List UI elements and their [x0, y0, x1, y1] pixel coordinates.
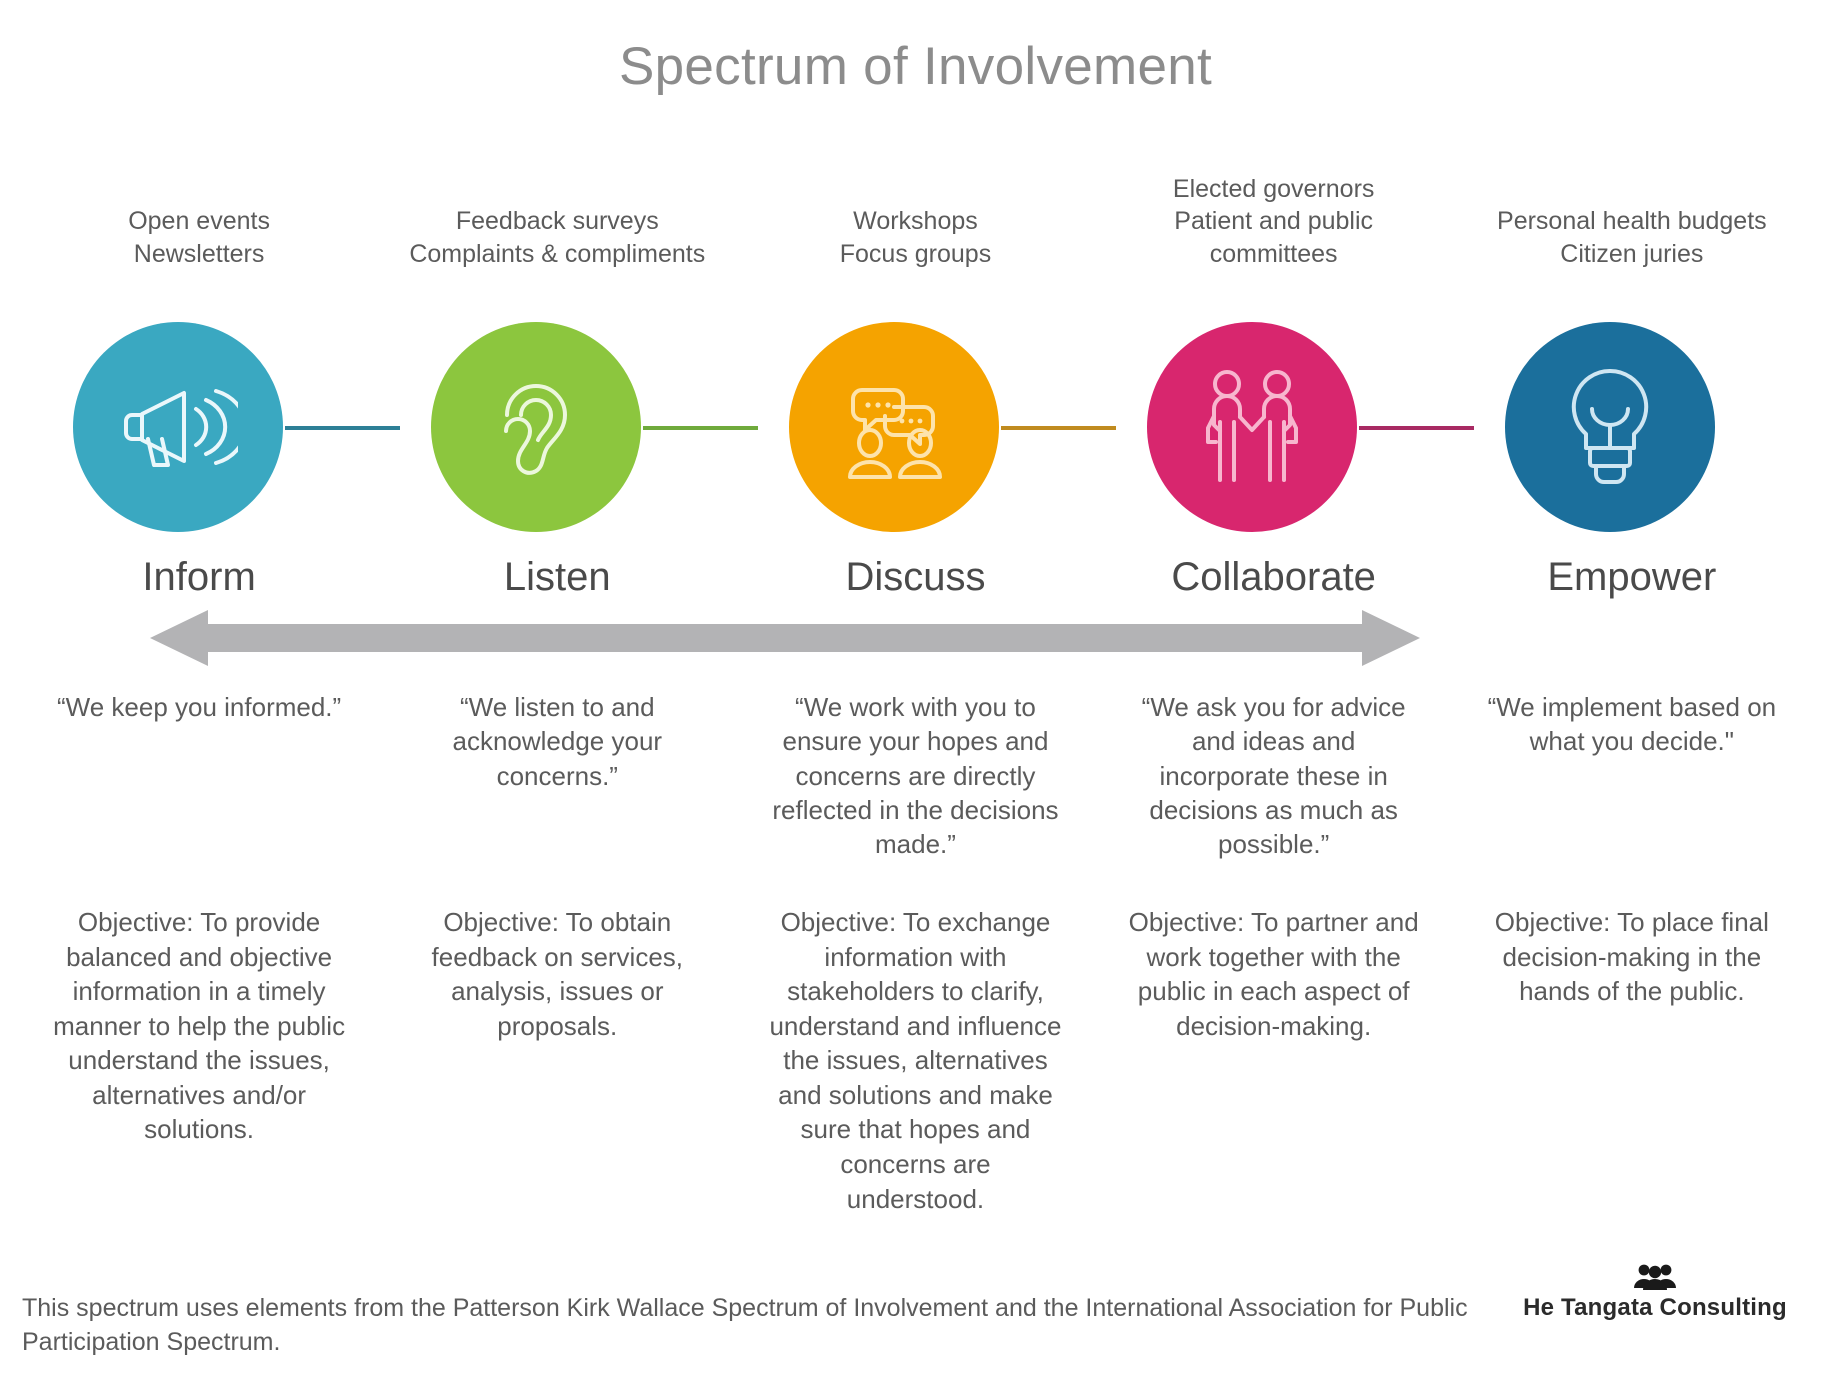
- examples-listen: Feedback surveys Complaints & compliment…: [391, 150, 723, 270]
- objective-empower: Objective: To place final decision-makin…: [1453, 905, 1811, 1009]
- example-label: Citizen juries: [1560, 238, 1703, 271]
- stage-names-row: Inform Listen Discuss Collaborate Empowe…: [20, 555, 1811, 600]
- example-label: Patient and public committees: [1113, 205, 1435, 270]
- column-empower: Personal health budgets Citizen juries: [1453, 150, 1811, 270]
- examples-collaborate: Elected governors Patient and public com…: [1095, 150, 1453, 270]
- circle-fill-collaborate: [1147, 322, 1357, 532]
- objective-collaborate: Objective: To partner and work together …: [1095, 905, 1453, 1043]
- stage-circle-empower[interactable]: [1505, 322, 1715, 532]
- objective-inform: Objective: To provide balanced and objec…: [20, 905, 378, 1147]
- examples-empower: Personal health budgets Citizen juries: [1479, 150, 1785, 270]
- stage-circle-inform[interactable]: [73, 322, 283, 532]
- circle-fill-listen: [431, 322, 641, 532]
- stage-circles-row: [20, 322, 1811, 532]
- stage-circle-listen[interactable]: [431, 322, 641, 532]
- brand-name: He Tangata Consulting: [1505, 1294, 1805, 1322]
- brand-logo: He Tangata Consulting: [1505, 1264, 1805, 1322]
- example-label: Elected governors: [1173, 173, 1375, 206]
- quote-empower: “We implement based on what you decide.": [1453, 690, 1811, 759]
- quote-listen: “We listen to and acknowledge your conce…: [378, 690, 736, 793]
- connector-listen-discuss: [643, 426, 758, 430]
- quote-discuss: “We work with you to ensure your hopes a…: [736, 690, 1094, 862]
- circle-fill-discuss: [789, 322, 999, 532]
- examples-row: Open events Newsletters Feedback surveys…: [20, 150, 1811, 270]
- example-label: Open events: [128, 205, 270, 238]
- example-label: Workshops: [853, 205, 978, 238]
- three-people-group-icon: [1632, 1264, 1678, 1290]
- example-label: Newsletters: [134, 238, 265, 271]
- objectives-row: Objective: To provide balanced and objec…: [20, 905, 1811, 1216]
- infographic-canvas: Spectrum of Involvement Open events News…: [0, 0, 1831, 1373]
- source-footnote: This spectrum uses elements from the Pat…: [22, 1292, 1472, 1360]
- double-headed-spectrum-arrow: [150, 608, 1420, 668]
- objective-listen: Objective: To obtain feedback on service…: [378, 905, 736, 1043]
- handshake-two-people-icon: [1187, 362, 1317, 492]
- lightbulb-icon: [1554, 363, 1666, 491]
- example-label: Complaints & compliments: [409, 238, 705, 271]
- column-discuss: Workshops Focus groups: [736, 150, 1094, 270]
- quote-collaborate: “We ask you for advice and ideas and inc…: [1095, 690, 1453, 862]
- stage-name-inform: Inform: [20, 555, 378, 600]
- connector-collaborate-empower: [1359, 426, 1474, 430]
- megaphone-icon: [118, 367, 238, 487]
- stage-circle-discuss[interactable]: [789, 322, 999, 532]
- discussion-people-speech-bubbles-icon: [832, 367, 956, 487]
- connector-discuss-collaborate: [1001, 426, 1116, 430]
- example-label: Feedback surveys: [456, 205, 659, 238]
- column-collaborate: Elected governors Patient and public com…: [1095, 150, 1453, 270]
- ear-icon: [477, 365, 595, 489]
- stage-name-collaborate: Collaborate: [1095, 555, 1453, 600]
- connector-inform-listen: [285, 426, 400, 430]
- circle-fill-empower: [1505, 322, 1715, 532]
- stage-circle-collaborate[interactable]: [1147, 322, 1357, 532]
- column-listen: Feedback surveys Complaints & compliment…: [378, 150, 736, 270]
- example-label: Focus groups: [840, 238, 991, 271]
- stage-name-discuss: Discuss: [736, 555, 1094, 600]
- spectrum-arrow-band: [150, 608, 1420, 668]
- examples-inform: Open events Newsletters: [110, 150, 288, 270]
- stage-name-empower: Empower: [1453, 555, 1811, 600]
- objective-discuss: Objective: To exchange information with …: [736, 905, 1094, 1216]
- stage-name-listen: Listen: [378, 555, 736, 600]
- quotes-row: “We keep you informed.” “We listen to an…: [20, 690, 1811, 862]
- quote-inform: “We keep you informed.”: [20, 690, 378, 724]
- examples-discuss: Workshops Focus groups: [822, 150, 1009, 270]
- column-inform: Open events Newsletters: [20, 150, 378, 270]
- example-label: Personal health budgets: [1497, 205, 1767, 238]
- circle-fill-inform: [73, 322, 283, 532]
- page-title: Spectrum of Involvement: [0, 36, 1831, 97]
